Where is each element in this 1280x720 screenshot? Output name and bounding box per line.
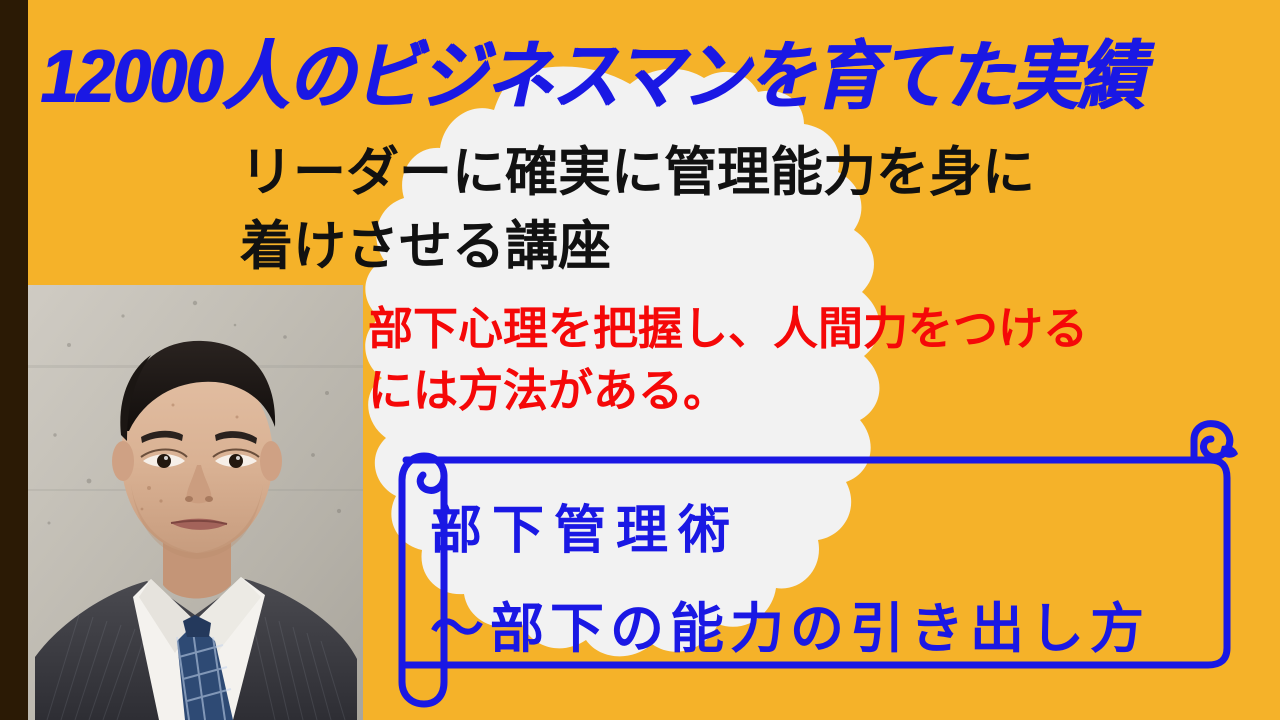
page-headline: 12000人のビジネスマンを育てた実績 [40,36,1280,119]
scroll-title: 部下管理術 [430,482,1220,580]
instructor-portrait-photo [27,285,363,720]
subtitle-line-1: リーダーに確実に管理能力を身に [240,136,1230,210]
slide-canvas: 12000人のビジネスマンを育てた実績 リーダーに確実に管理能力を身に 着けさせ… [0,0,1280,720]
page-subtitle: リーダーに確実に管理能力を身に 着けさせる講座 [240,136,1230,284]
scroll-banner-text: 部下管理術 〜部下の能力の引き出し方 [430,482,1220,678]
lead-copy: 部下心理を把握し、人間力をつける には方法がある。 [368,298,1248,422]
lead-line-2: には方法がある。 [368,360,1248,422]
subtitle-line-2: 着けさせる講座 [240,210,1230,284]
left-edge-band [0,0,28,720]
lead-line-1: 部下心理を把握し、人間力をつける [368,298,1248,360]
scroll-subtitle: 〜部下の能力の引き出し方 [430,580,1220,678]
